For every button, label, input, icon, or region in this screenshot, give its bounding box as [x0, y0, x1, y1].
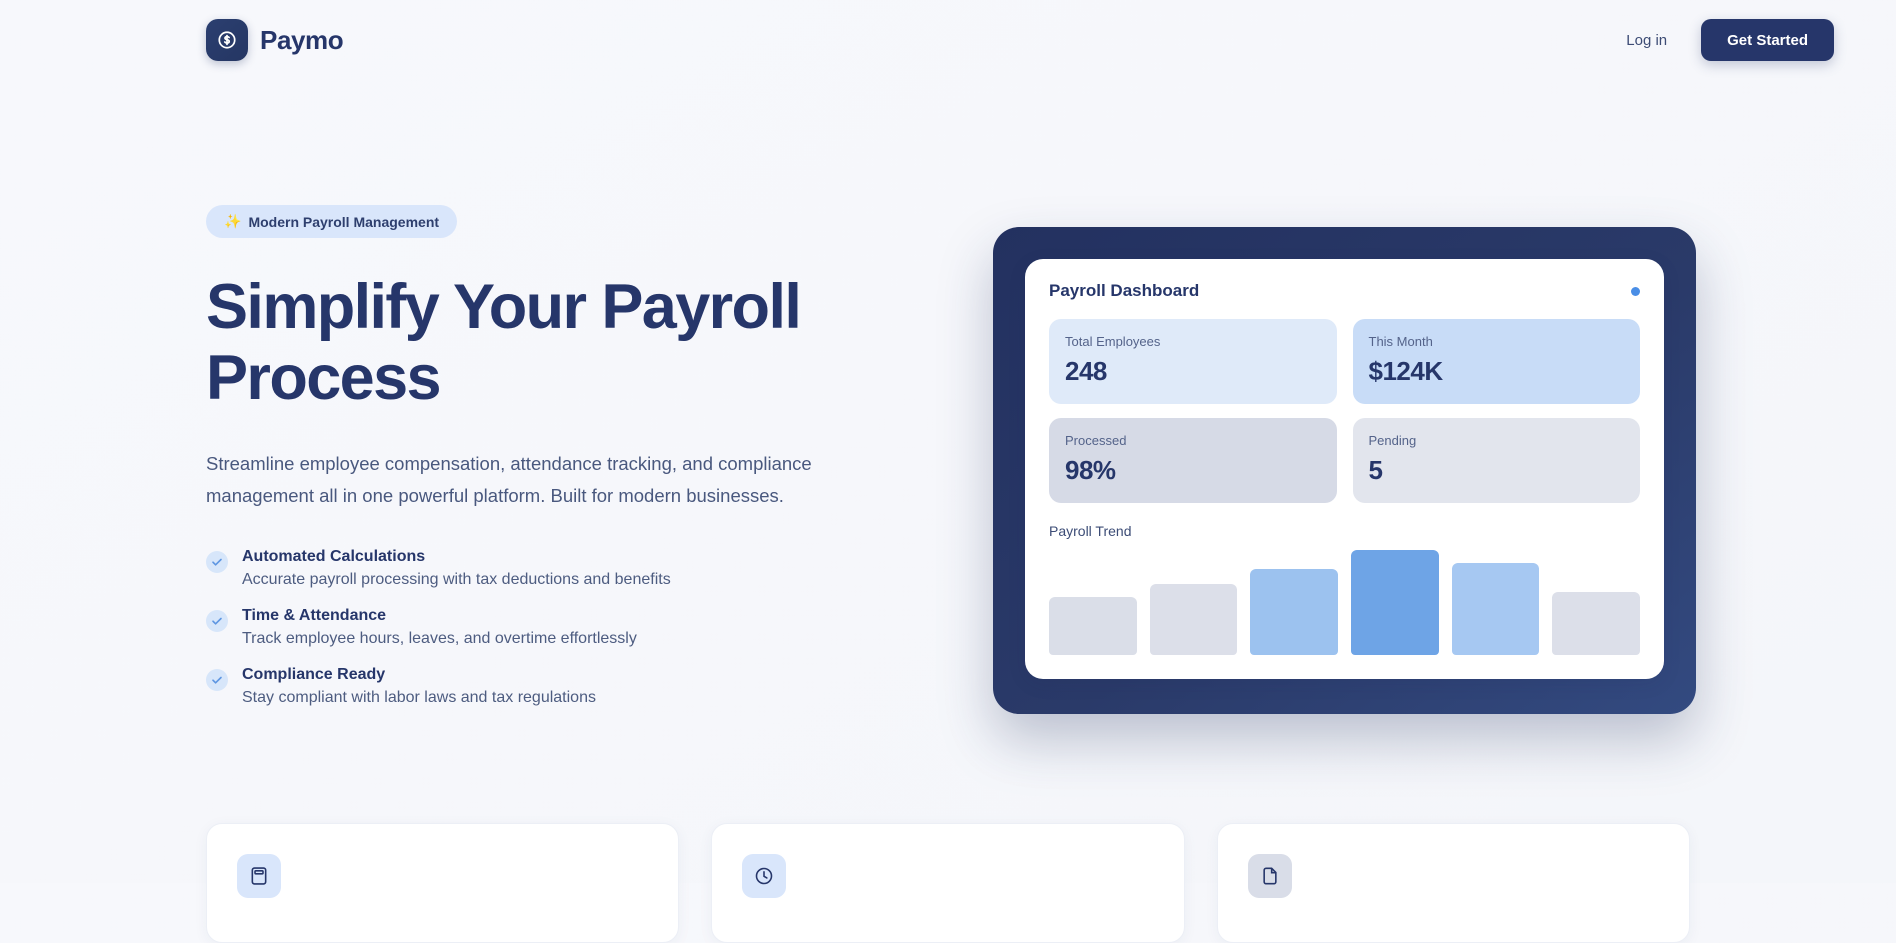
feature-list: Automated Calculations Accurate payroll … [206, 548, 926, 707]
hero-badge-label: Modern Payroll Management [248, 214, 439, 230]
stat-value: 5 [1369, 455, 1625, 486]
list-item: Automated Calculations Accurate payroll … [206, 548, 926, 589]
stat-card-this-month: This Month $124K [1353, 319, 1641, 404]
feature-desc: Track employee hours, leaves, and overti… [242, 630, 637, 648]
stat-card-total-employees: Total Employees 248 [1049, 319, 1337, 404]
nav-actions: Log in Get Started [1622, 19, 1834, 61]
chart-bar [1351, 550, 1439, 655]
feature-card[interactable] [711, 823, 1184, 943]
stat-value: 98% [1065, 455, 1321, 486]
hero-subcopy: Streamline employee compensation, attend… [206, 448, 896, 512]
dashboard-header: Payroll Dashboard [1049, 281, 1640, 301]
calculator-icon [237, 854, 281, 898]
stat-label: Processed [1065, 433, 1321, 448]
dashboard-preview-frame: Payroll Dashboard Total Employees 248 Th… [993, 227, 1696, 714]
payroll-dashboard-card: Payroll Dashboard Total Employees 248 Th… [1025, 259, 1664, 679]
feature-title: Compliance Ready [242, 666, 385, 683]
check-icon [206, 669, 228, 691]
login-link[interactable]: Log in [1622, 26, 1671, 55]
chart-bar [1049, 597, 1137, 655]
feature-card[interactable] [1217, 823, 1690, 943]
dashboard-title: Payroll Dashboard [1049, 281, 1199, 301]
feature-title: Time & Attendance [242, 607, 386, 624]
status-indicator-dot [1631, 287, 1640, 296]
check-icon [206, 551, 228, 573]
stat-label: This Month [1369, 334, 1625, 349]
chart-bar [1250, 569, 1338, 655]
payroll-trend-bar-chart [1049, 550, 1640, 655]
list-item: Time & Attendance Track employee hours, … [206, 607, 926, 648]
feature-desc: Accurate payroll processing with tax ded… [242, 571, 671, 589]
brand-logo[interactable]: Paymo [206, 19, 343, 61]
get-started-button[interactable]: Get Started [1701, 19, 1834, 61]
feature-title: Automated Calculations [242, 548, 425, 565]
document-icon [1248, 854, 1292, 898]
list-item: Compliance Ready Stay compliant with lab… [206, 666, 926, 707]
page-title: Simplify Your Payroll Process [206, 272, 846, 414]
stat-card-processed: Processed 98% [1049, 418, 1337, 503]
feature-card-row [206, 823, 1690, 943]
brand-name: Paymo [260, 25, 343, 56]
check-icon [206, 610, 228, 632]
stat-card-pending: Pending 5 [1353, 418, 1641, 503]
hero-section: ✨ Modern Payroll Management Simplify You… [206, 205, 926, 725]
stat-label: Pending [1369, 433, 1625, 448]
hero-badge: ✨ Modern Payroll Management [206, 205, 457, 238]
feature-desc: Stay compliant with labor laws and tax r… [242, 689, 596, 707]
sparkles-icon: ✨ [224, 213, 241, 230]
dollar-coin-icon [206, 19, 248, 61]
chart-bar [1552, 592, 1640, 655]
chart-title: Payroll Trend [1049, 523, 1640, 539]
clock-icon [742, 854, 786, 898]
stat-value: $124K [1369, 356, 1625, 387]
stat-label: Total Employees [1065, 334, 1321, 349]
stat-value: 248 [1065, 356, 1321, 387]
top-navbar: Paymo Log in Get Started [0, 0, 1896, 80]
feature-card[interactable] [206, 823, 679, 943]
chart-bar [1150, 584, 1238, 655]
stat-card-grid: Total Employees 248 This Month $124K Pro… [1049, 319, 1640, 503]
chart-bar [1452, 563, 1540, 655]
